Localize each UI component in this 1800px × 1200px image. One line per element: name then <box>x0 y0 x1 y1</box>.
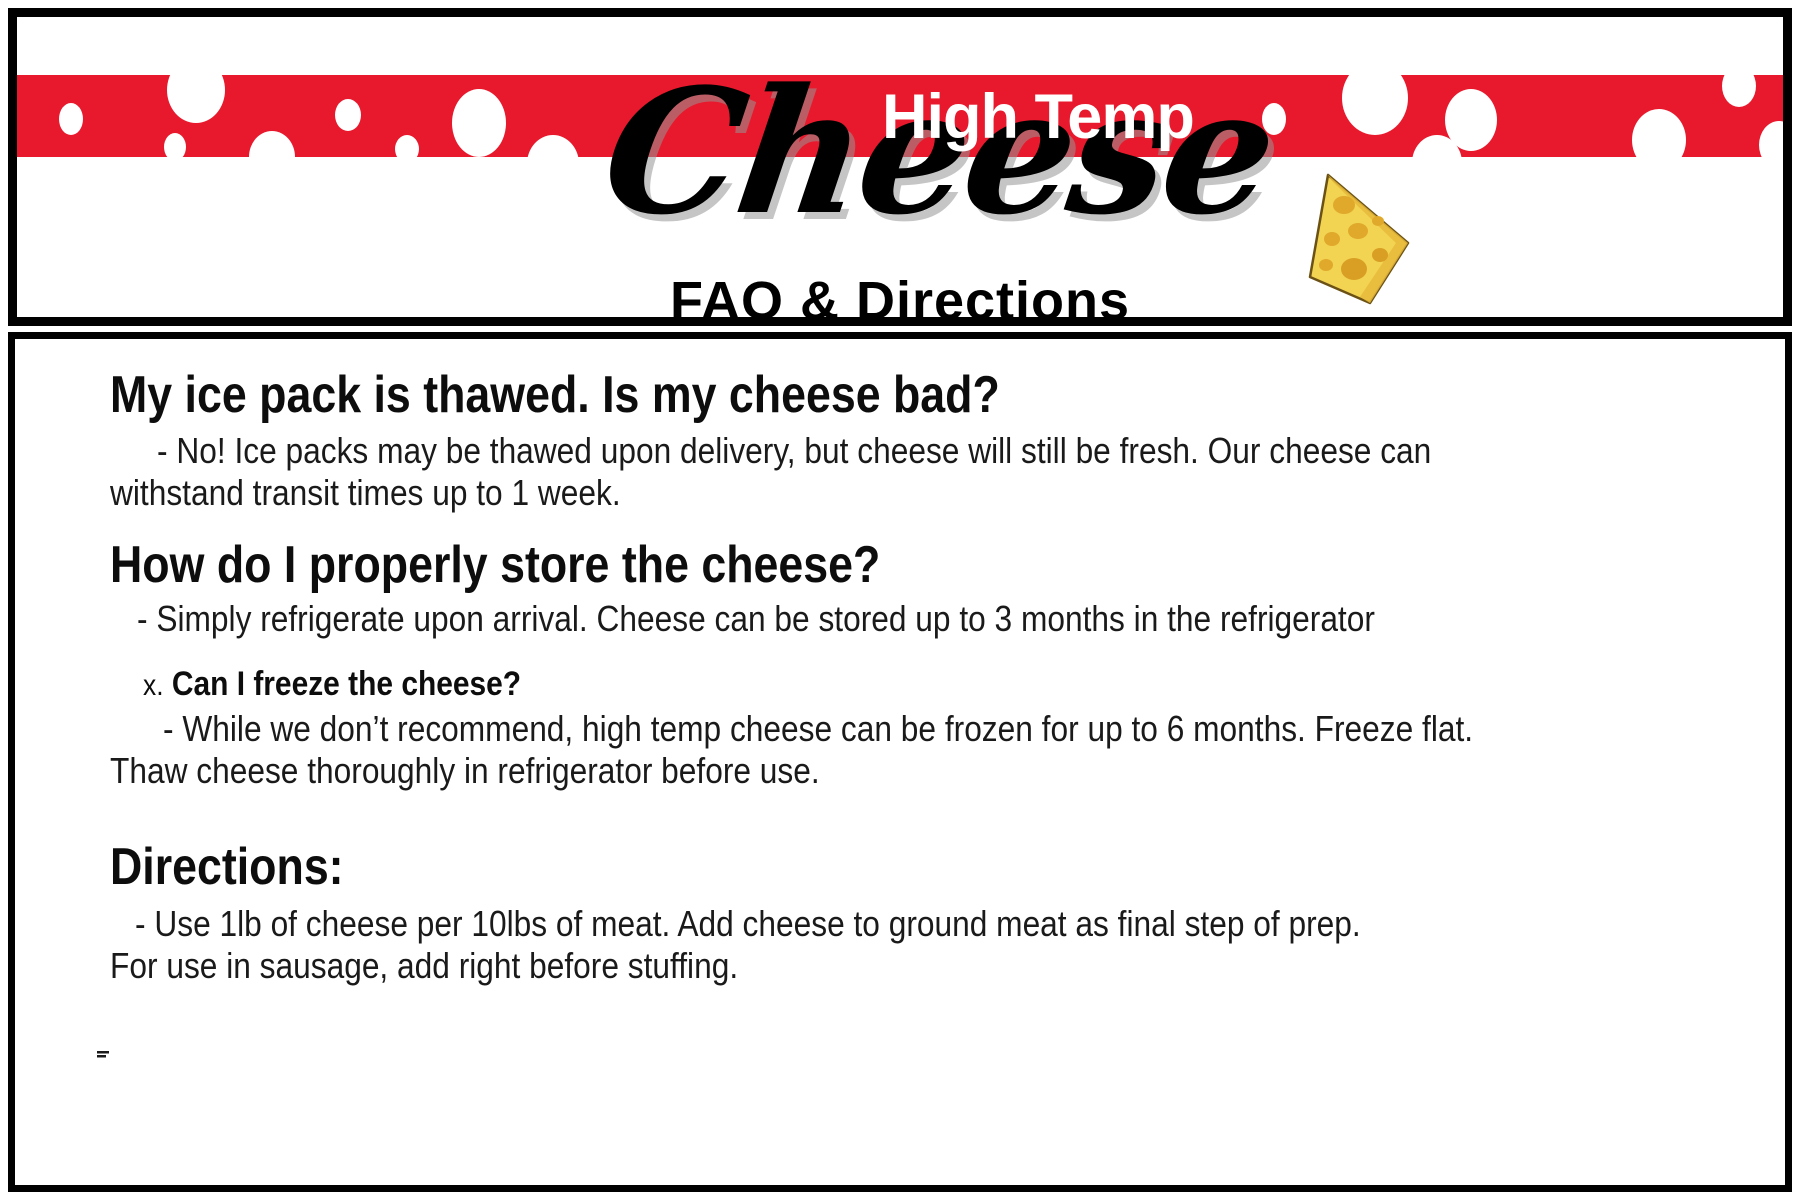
band-hole <box>527 135 579 157</box>
flyer-page: Cheese High Temp FAQ & Directions My ice… <box>0 0 1800 1200</box>
sub-answer-line-2: Thaw cheese thoroughly in refrigerator b… <box>110 749 820 793</box>
band-hole <box>249 131 295 157</box>
faq-subtitle: FAQ & Directions <box>17 272 1783 326</box>
directions-line-1: - Use 1lb of cheese per 10lbs of meat. A… <box>135 902 1361 946</box>
band-hole <box>164 133 186 157</box>
directions-line-2: For use in sausage, add right before stu… <box>110 944 738 988</box>
band-hole <box>452 89 506 157</box>
faq-answer-1-line-2: withstand transit times up to 1 week. <box>110 471 621 515</box>
high-temp-kicker: High Temp <box>882 81 1302 153</box>
band-hole <box>167 75 225 123</box>
faq-question-1: My ice pack is thawed. Is my cheese bad? <box>110 367 1000 423</box>
sub-question-marker: x. <box>143 669 164 702</box>
directions-heading: Directions: <box>110 839 344 895</box>
band-hole <box>59 103 83 135</box>
faq-answer-2-line-1: - Simply refrigerate upon arrival. Chees… <box>137 597 1375 641</box>
faq-answer-1-line-1: - No! Ice packs may be thawed upon deliv… <box>157 429 1431 473</box>
body-card: My ice pack is thawed. Is my cheese bad?… <box>8 332 1792 1192</box>
header-card: Cheese High Temp FAQ & Directions <box>8 8 1792 326</box>
band-hole <box>1632 109 1686 157</box>
scan-artifact-mark <box>97 1048 111 1058</box>
band-hole <box>1342 75 1408 135</box>
band-hole <box>335 99 361 131</box>
faq-question-2: How do I properly store the cheese? <box>110 537 880 593</box>
band-hole <box>1722 75 1756 107</box>
band-hole <box>395 135 419 157</box>
band-hole <box>1759 121 1783 157</box>
sub-answer-line-1: - While we don’t recommend, high temp ch… <box>163 707 1473 751</box>
sub-question-text: Can I freeze the cheese? <box>172 665 521 703</box>
body-content: My ice pack is thawed. Is my cheese bad?… <box>15 339 1785 1185</box>
sub-question-freeze: x. Can I freeze the cheese? <box>143 664 521 706</box>
